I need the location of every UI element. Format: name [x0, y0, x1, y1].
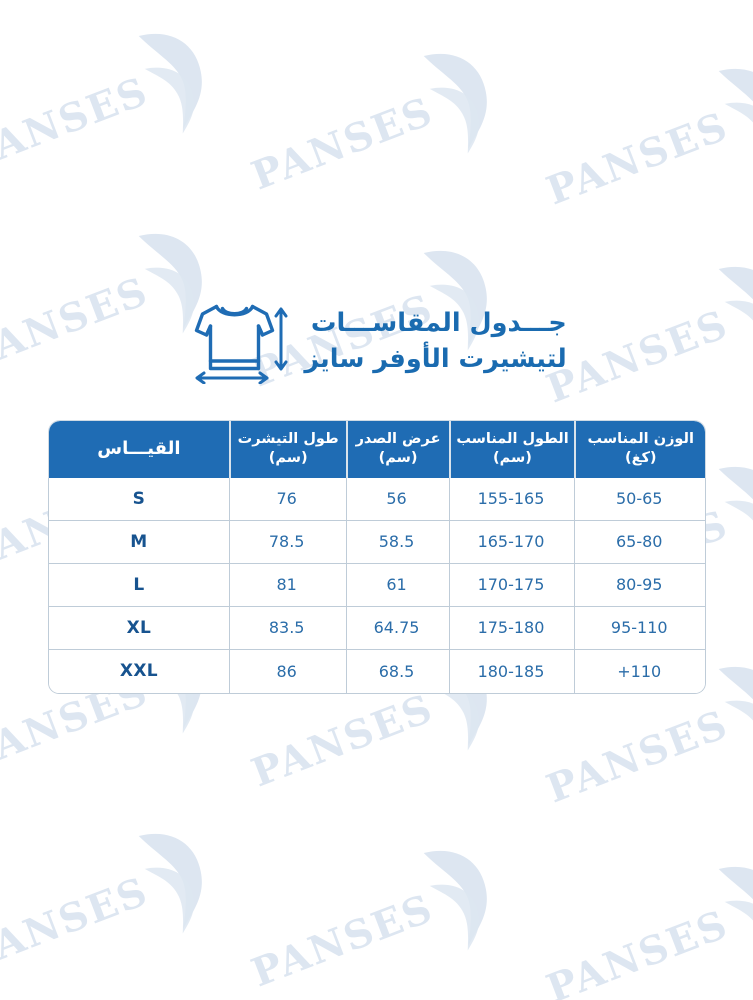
page-title: جـــدول المقاســـات لتيشيرت الأوفر سايز — [304, 305, 566, 377]
column-header-chest-label: عرض الصدر — [352, 430, 445, 449]
cell-size: L — [49, 564, 229, 607]
watermark-text: PANSES — [540, 701, 734, 812]
table-header-row: الوزن المناسب (كغ) الطول المناسب (سم) عر… — [49, 421, 705, 478]
watermark-text: PANSES — [540, 901, 734, 1000]
table-row: 65-80165-17058.578.5M — [49, 521, 705, 564]
cell-weight: 50-65 — [574, 478, 705, 521]
page-title-line-1: جـــدول المقاســـات — [304, 305, 566, 341]
cell-length: 81 — [229, 564, 346, 607]
cell-size: M — [49, 521, 229, 564]
cell-chest: 58.5 — [346, 521, 449, 564]
watermark-text: PANSES — [245, 88, 439, 199]
cell-weight: 95-110 — [574, 607, 705, 650]
column-header-height: الطول المناسب (سم) — [449, 421, 575, 478]
column-header-height-label: الطول المناسب — [455, 430, 571, 449]
cell-height: 155-165 — [449, 478, 575, 521]
table-row: 50-65155-1655676S — [49, 478, 705, 521]
cell-length: 83.5 — [229, 607, 346, 650]
cell-height: 170-175 — [449, 564, 575, 607]
column-header-length-label: طول التيشرت — [235, 430, 342, 449]
cell-size: XL — [49, 607, 229, 650]
size-chart-table: الوزن المناسب (كغ) الطول المناسب (سم) عر… — [48, 420, 706, 694]
column-header-size: القيـــاس — [49, 421, 229, 478]
watermark-text: PANSES — [0, 68, 155, 179]
watermark-text: PANSES — [245, 685, 439, 796]
table-row: 80-95170-1756181L — [49, 564, 705, 607]
size-chart-header-table: الوزن المناسب (كغ) الطول المناسب (سم) عر… — [49, 421, 705, 478]
watermark-text: PANSES — [540, 103, 734, 214]
cell-weight: +110 — [574, 650, 705, 693]
page-title-line-2: لتيشيرت الأوفر سايز — [304, 341, 566, 377]
watermark-logo: PANSES — [528, 48, 753, 245]
cell-length: 78.5 — [229, 521, 346, 564]
watermark-logo: PANSES — [233, 33, 513, 230]
column-header-height-unit: (سم) — [455, 449, 571, 468]
cell-chest: 61 — [346, 564, 449, 607]
table-row: 95-110175-18064.7583.5XL — [49, 607, 705, 650]
column-header-weight: الوزن المناسب (كغ) — [574, 421, 705, 478]
cell-chest: 64.75 — [346, 607, 449, 650]
watermark-logo: PANSES — [0, 813, 228, 1000]
cell-height: 175-180 — [449, 607, 575, 650]
column-header-weight-label: الوزن المناسب — [580, 430, 701, 449]
cell-height: 165-170 — [449, 521, 575, 564]
cell-weight: 65-80 — [574, 521, 705, 564]
size-chart-body-table: 50-65155-1655676S65-80165-17058.578.5M80… — [49, 478, 705, 693]
watermark-text: PANSES — [0, 868, 155, 979]
column-header-weight-unit: (كغ) — [580, 449, 701, 468]
chart-title-block: جـــدول المقاســـات لتيشيرت الأوفر سايز — [0, 298, 753, 384]
cell-chest: 68.5 — [346, 650, 449, 693]
cell-weight: 80-95 — [574, 564, 705, 607]
column-header-chest: عرض الصدر (سم) — [346, 421, 449, 478]
cell-length: 86 — [229, 650, 346, 693]
tshirt-measure-icon — [186, 298, 290, 384]
cell-chest: 56 — [346, 478, 449, 521]
watermark-logo: PANSES — [0, 13, 228, 210]
column-header-size-label: القيـــاس — [53, 437, 225, 460]
cell-length: 76 — [229, 478, 346, 521]
cell-size: S — [49, 478, 229, 521]
column-header-length: طول التيشرت (سم) — [229, 421, 346, 478]
cell-size: XXL — [49, 650, 229, 693]
size-chart-header-frame: الوزن المناسب (كغ) الطول المناسب (سم) عر… — [48, 420, 706, 478]
column-header-chest-unit: (سم) — [352, 449, 445, 468]
table-row: +110180-18568.586XXL — [49, 650, 705, 693]
size-chart-rows: 50-65155-1655676S65-80165-17058.578.5M80… — [49, 478, 705, 693]
watermark-logo: PANSES — [528, 846, 753, 1000]
cell-height: 180-185 — [449, 650, 575, 693]
watermark-logo: PANSES — [233, 830, 513, 1000]
size-chart-body-frame: 50-65155-1655676S65-80165-17058.578.5M80… — [48, 478, 706, 694]
watermark-text: PANSES — [245, 885, 439, 996]
column-header-length-unit: (سم) — [235, 449, 342, 468]
